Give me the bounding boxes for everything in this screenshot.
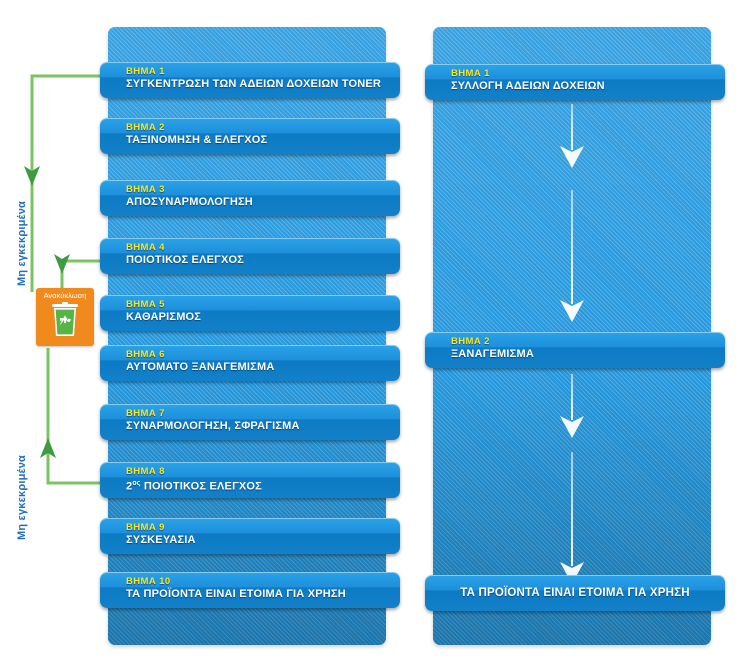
left-step-2[interactable]: ΒΗΜΑ 2 ΤΑΞΙΝΟΜΗΣΗ & ΕΛΕΓΧΟΣ	[100, 118, 400, 154]
right-final-bar[interactable]: ΤΑ ΠΡΟΪΟΝΤΑ ΕΙΝΑΙ ΕΤΟΙΜΑ ΓΙΑ ΧΡΗΣΗ	[425, 575, 725, 611]
side-label-top-unapproved: Μη εγκεκριμένα	[16, 201, 28, 286]
step-number: ΒΗΜΑ 2	[451, 336, 725, 347]
left-step-3[interactable]: ΒΗΜΑ 3 ΑΠΟΣΥΝΑΡΜΟΛΟΓΗΣΗ	[100, 180, 400, 216]
left-step-6[interactable]: ΒΗΜΑ 6 ΑΥΤΟΜΑΤΟ ΞΑΝΑΓΕΜΙΣΜΑ	[100, 345, 400, 381]
step-number: ΒΗΜΑ 5	[126, 299, 400, 310]
step-title: ΤΑΞΙΝΟΜΗΣΗ & ΕΛΕΓΧΟΣ	[126, 133, 400, 147]
step-title: ΑΥΤΟΜΑΤΟ ΞΑΝΑΓΕΜΙΣΜΑ	[126, 360, 400, 374]
step-number: ΒΗΜΑ 7	[126, 408, 400, 419]
step-title: ΞΑΝΑΓΕΜΙΣΜΑ	[451, 347, 725, 361]
final-title: ΤΑ ΠΡΟΪΟΝΤΑ ΕΙΝΑΙ ΕΤΟΙΜΑ ΓΙΑ ΧΡΗΣΗ	[460, 586, 690, 600]
step-number: ΒΗΜΑ 1	[126, 66, 400, 77]
left-step-9[interactable]: ΒΗΜΑ 9 ΣΥΣΚΕΥΑΣΙΑ	[100, 518, 400, 554]
step-number: ΒΗΜΑ 4	[126, 242, 400, 253]
step-title: ΣΥΝΑΡΜΟΛΟΓΗΣΗ, ΣΦΡΑΓΙΣΜΑ	[126, 419, 400, 433]
step-number: ΒΗΜΑ 3	[126, 184, 400, 195]
step-title-ordinal: ος	[132, 480, 140, 487]
right-step-2[interactable]: ΒΗΜΑ 2 ΞΑΝΑΓΕΜΙΣΜΑ	[425, 332, 725, 368]
step-number: ΒΗΜΑ 10	[126, 576, 400, 587]
step-number: ΒΗΜΑ 8	[126, 466, 400, 477]
step-title: ΣΥΣΚΕΥΑΣΙΑ	[126, 533, 400, 547]
step-title: ΑΠΟΣΥΝΑΡΜΟΛΟΓΗΣΗ	[126, 195, 400, 209]
left-step-10[interactable]: ΒΗΜΑ 10 ΤΑ ΠΡΟΪΟΝΤΑ ΕΙΝΑΙ ΕΤΟΙΜΑ ΓΙΑ ΧΡΗ…	[100, 572, 400, 608]
step-number: ΒΗΜΑ 6	[126, 349, 400, 360]
right-step-1[interactable]: ΒΗΜΑ 1 ΣΥΛΛΟΓΗ ΑΔΕΙΩΝ ΔΟΧΕΙΩΝ	[425, 64, 725, 100]
step-title: ΤΑ ΠΡΟΪΟΝΤΑ ΕΙΝΑΙ ΕΤΟΙΜΑ ΓΙΑ ΧΡΗΣΗ	[126, 587, 400, 601]
step-number: ΒΗΜΑ 9	[126, 522, 400, 533]
side-label-bottom-unapproved: Μη εγκεκριμένα	[16, 455, 28, 540]
recycling-label: Ανακύκλωση	[36, 290, 94, 301]
step-title: ΣΥΛΛΟΓΗ ΑΔΕΙΩΝ ΔΟΧΕΙΩΝ	[451, 79, 725, 93]
recycle-bin-icon	[50, 302, 80, 338]
left-step-7[interactable]: ΒΗΜΑ 7 ΣΥΝΑΡΜΟΛΟΓΗΣΗ, ΣΦΡΑΓΙΣΜΑ	[100, 404, 400, 440]
step-title: 2ος ΠΟΙΟΤΙΚΟΣ ΕΛΕΓΧΟΣ	[126, 477, 400, 494]
left-step-8[interactable]: ΒΗΜΑ 8 2ος ΠΟΙΟΤΙΚΟΣ ΕΛΕΓΧΟΣ	[100, 462, 400, 498]
step-number: ΒΗΜΑ 1	[451, 68, 725, 79]
left-step-4[interactable]: ΒΗΜΑ 4 ΠΟΙΟΤΙΚΟΣ ΕΛΕΓΧΟΣ	[100, 238, 400, 274]
diagram-canvas: Ανακύκλωση Μη εγκεκριμένα Μη εγκεκριμένα…	[0, 0, 740, 670]
step-title-rest: ΠΟΙΟΤΙΚΟΣ ΕΛΕΓΧΟΣ	[141, 481, 262, 493]
left-step-5[interactable]: ΒΗΜΑ 5 ΚΑΘΑΡΙΣΜΟΣ	[100, 295, 400, 331]
step-title: ΚΑΘΑΡΙΣΜΟΣ	[126, 310, 400, 324]
step-title: ΠΟΙΟΤΙΚΟΣ ΕΛΕΓΧΟΣ	[126, 253, 400, 267]
left-step-1[interactable]: ΒΗΜΑ 1 ΣΥΓΚΕΝΤΡΩΣΗ ΤΩΝ ΑΔΕΙΩΝ ΔΟΧΕΙΩΝ TO…	[100, 62, 400, 98]
step-number: ΒΗΜΑ 2	[126, 122, 400, 133]
step-title: ΣΥΓΚΕΝΤΡΩΣΗ ΤΩΝ ΑΔΕΙΩΝ ΔΟΧΕΙΩΝ TONER	[126, 77, 400, 91]
recycling-box[interactable]: Ανακύκλωση	[36, 288, 94, 346]
